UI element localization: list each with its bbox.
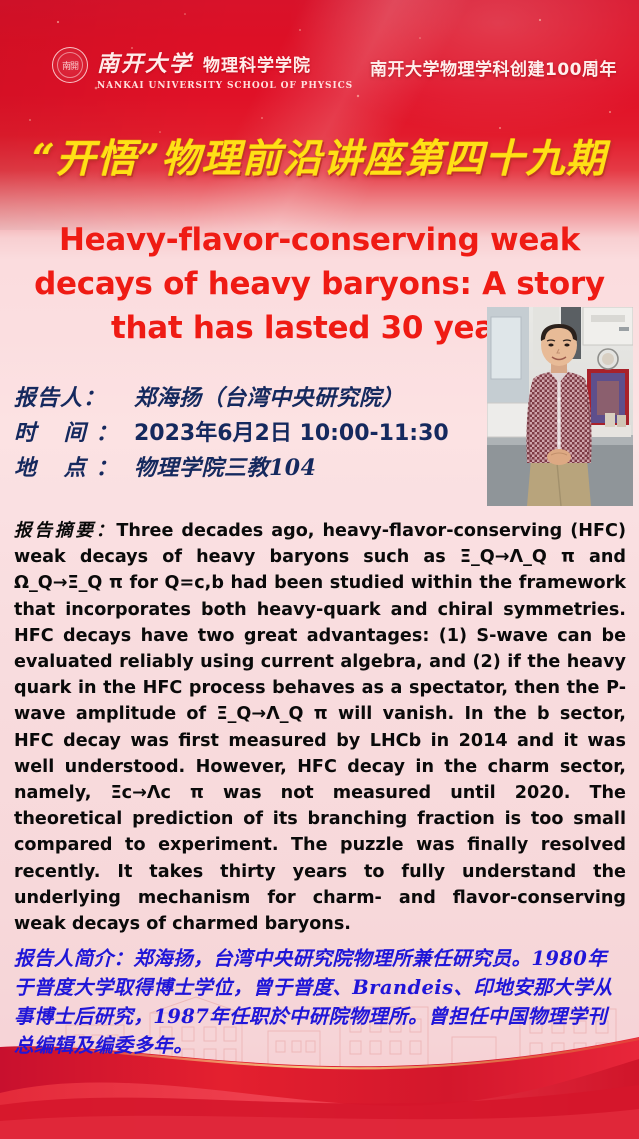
speaker-value: 郑海扬（台湾中央研究院） [134, 380, 404, 412]
poster-header: 南開 南开大学 物理科学学院 NANKAI UNIVERSITY SCHOOL … [0, 0, 639, 118]
speaker-bio: 报告人简介：郑海扬，台湾中央研究院物理所兼任研究员。1980年于普度大学取得博士… [14, 944, 626, 1060]
nankai-seal-icon: 南開 [52, 47, 88, 83]
abstract-label: 报告摘要： [14, 520, 116, 541]
logo-text: 南开大学 物理科学学院 NANKAI UNIVERSITY SCHOOL OF … [97, 46, 353, 91]
place-label: 地 点： [14, 450, 134, 482]
time-label: 时 间： [14, 415, 134, 447]
info-row-place: 地 点： 物理学院三教104 [14, 450, 484, 482]
speaker-photo [487, 307, 633, 506]
event-info: 报告人： 郑海扬（台湾中央研究院） 时 间： 2023年6月2日 10:00-1… [14, 380, 484, 485]
series-title: “开悟”物理前沿讲座第四十九期 [0, 128, 639, 184]
abstract-block: 报告摘要：Three decades ago, heavy-flavor-con… [14, 518, 626, 937]
logo-chinese-line: 南开大学 物理科学学院 [97, 46, 353, 78]
speaker-label: 报告人： [14, 380, 134, 412]
lecture-poster: 南開 南开大学 物理科学学院 NANKAI UNIVERSITY SCHOOL … [0, 0, 639, 1139]
logo-school-name: 物理科学学院 [203, 51, 311, 76]
abstract-text: Three decades ago, heavy-flavor-conservi… [14, 521, 626, 934]
anniversary-banner: 南开大学物理学科创建100周年 [370, 55, 617, 80]
info-row-time: 时 间： 2023年6月2日 10:00-11:30 [14, 415, 484, 447]
university-logo: 南開 南开大学 物理科学学院 NANKAI UNIVERSITY SCHOOL … [52, 46, 353, 91]
place-value: 物理学院三教104 [134, 450, 316, 482]
seal-glyph-text: 南開 [53, 48, 87, 82]
logo-english-name: NANKAI UNIVERSITY SCHOOL OF PHYSICS [97, 81, 353, 91]
logo-university-name: 南开大学 [97, 46, 193, 78]
time-value: 2023年6月2日 10:00-11:30 [134, 415, 449, 447]
info-row-speaker: 报告人： 郑海扬（台湾中央研究院） [14, 380, 484, 412]
